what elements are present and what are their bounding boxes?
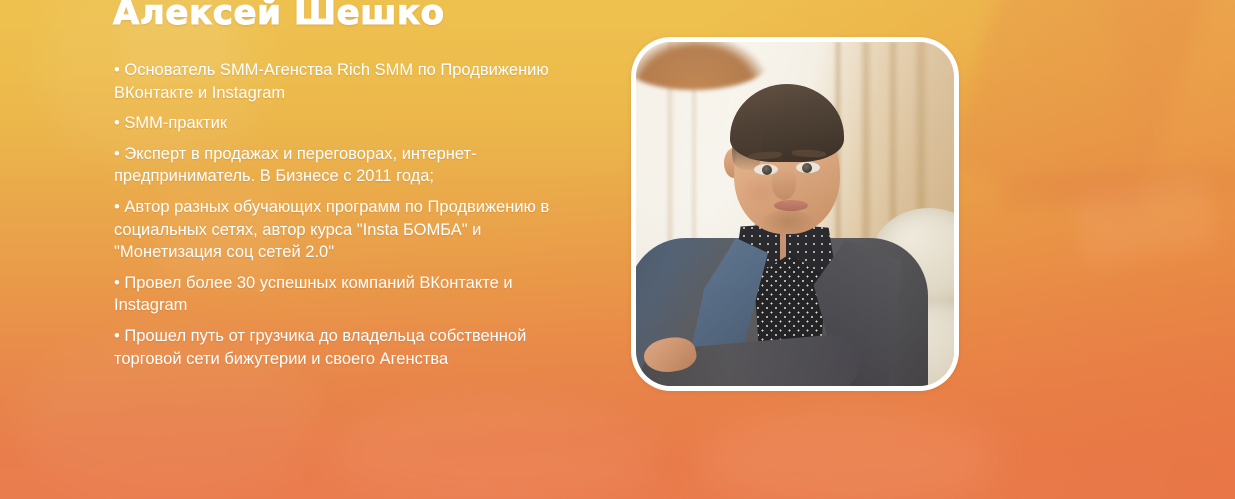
promo-banner: Алексей Шешко • Основатель SMM-Агенства … — [0, 0, 1235, 499]
background-watermark-shape-7 — [430, 420, 651, 457]
list-item: • Эксперт в продажах и переговорах, инте… — [114, 143, 582, 188]
background-watermark-shape-8 — [560, 439, 691, 473]
list-item: • SMM-практик — [114, 112, 582, 135]
background-watermark-shape-6 — [1075, 175, 1214, 264]
background-watermark-blob-3 — [330, 400, 660, 499]
portrait-frame — [631, 37, 959, 391]
page-title: Алексей Шешко — [113, 0, 445, 35]
list-item: • Основатель SMM-Агенства Rich SMM по Пр… — [114, 59, 582, 104]
background-watermark-shape-5 — [999, 162, 1235, 213]
background-watermark-shape-4 — [1098, 0, 1235, 185]
photo-color-grade — [636, 42, 954, 386]
portrait-photo — [636, 42, 954, 386]
list-item: • Прошел путь от грузчика до владельца с… — [114, 325, 582, 370]
background-watermark-shape-3 — [945, 0, 1216, 225]
list-item: • Автор разных обучающих программ по Про… — [114, 196, 582, 264]
background-watermark-blob-4 — [700, 410, 1000, 499]
bio-bullet-list: • Основатель SMM-Агенства Rich SMM по Пр… — [114, 59, 582, 370]
list-item: • Провел более 30 успешных компаний ВКон… — [114, 272, 582, 317]
